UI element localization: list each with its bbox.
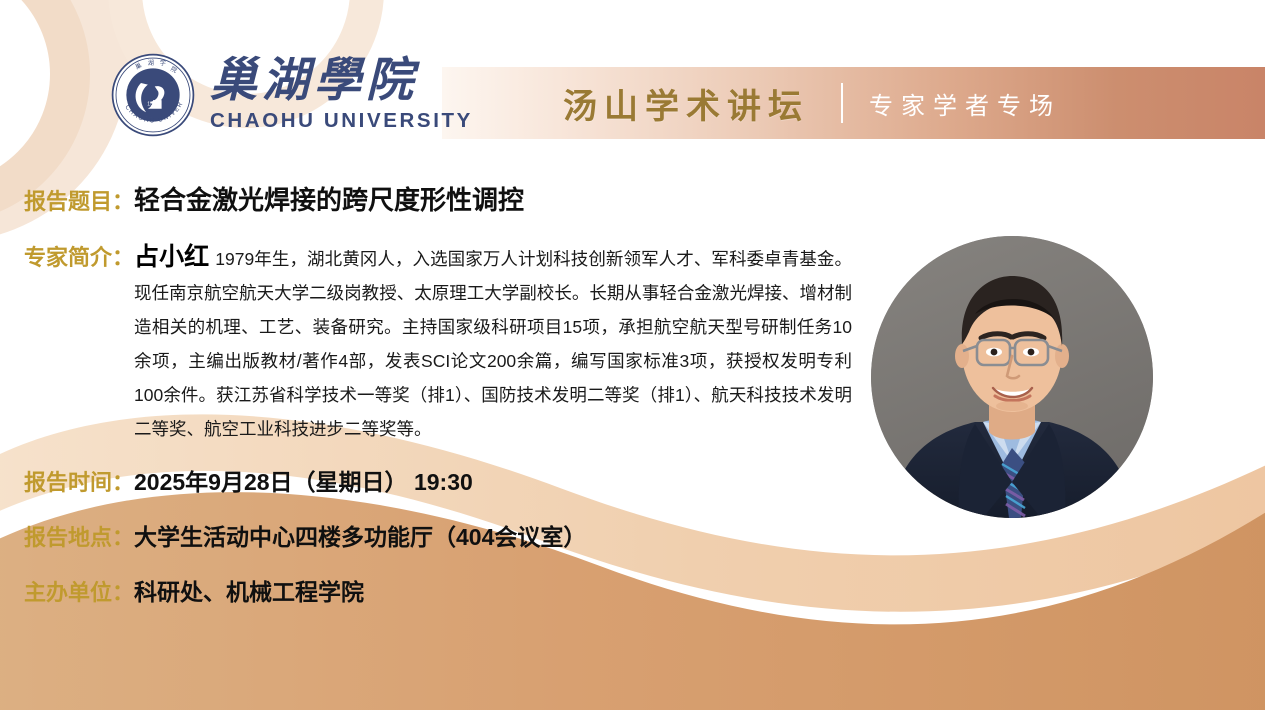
value-report-title: 轻合金激光焊接的跨尺度形性调控 [134, 180, 524, 217]
row-report-place: 报告地点： 大学生活动中心四楼多功能厅（404会议室） [24, 518, 586, 552]
label-report-title: 报告题目： [24, 184, 134, 216]
row-host-organizer: 主办单位： 科研处、机械工程学院 [24, 573, 364, 607]
banner-divider [841, 83, 843, 123]
speaker-bio-body: 占小红1979年生，湖北黄冈人，入选国家万人计划科技创新领军人才、军科委卓青基金… [134, 240, 852, 446]
label-host-organizer: 主办单位： [24, 575, 134, 607]
speaker-bio-text: 1979年生，湖北黄冈人，入选国家万人计划科技创新领军人才、军科委卓青基金。现任… [134, 249, 852, 439]
logo-chinese-name: 巢湖學院 [210, 57, 418, 104]
university-seal-icon: 1977 巢 湖 学 院 CHAOHU UNIVERSITY [110, 52, 196, 138]
speaker-portrait-image [871, 236, 1153, 518]
label-report-time: 报告时间： [24, 465, 134, 497]
poster-root: 汤山学术讲坛 专家学者专场 1977 巢 湖 学 院 CHAOHU UNIVER… [0, 0, 1265, 710]
value-report-place: 大学生活动中心四楼多功能厅（404会议室） [134, 518, 586, 552]
banner-main-title: 汤山学术讲坛 [563, 79, 809, 128]
logo-english-name: CHAOHU UNIVERSITY [210, 109, 473, 133]
svg-text:1977: 1977 [147, 101, 159, 107]
row-report-time: 报告时间： 2025年9月28日（星期日） 19:30 [24, 463, 473, 497]
row-speaker-bio: 专家简介： 占小红1979年生，湖北黄冈人，入选国家万人计划科技创新领军人才、军… [24, 240, 874, 446]
value-host-organizer: 科研处、机械工程学院 [134, 573, 364, 607]
svg-text:湖: 湖 [148, 59, 154, 67]
banner-sub-title: 专家学者专场 [869, 86, 1061, 121]
value-report-time: 2025年9月28日（星期日） 19:30 [134, 463, 473, 497]
svg-text:学: 学 [160, 59, 166, 67]
university-logo: 1977 巢 湖 学 院 CHAOHU UNIVERSITY 巢湖學院 CHAO… [110, 52, 473, 138]
header-banner: 汤山学术讲坛 专家学者专场 [442, 67, 1265, 139]
label-speaker-bio: 专家简介： [24, 240, 134, 272]
label-report-place: 报告地点： [24, 520, 134, 552]
speaker-name: 占小红 [134, 243, 209, 271]
row-report-title: 报告题目： 轻合金激光焊接的跨尺度形性调控 [24, 180, 524, 217]
speaker-portrait [871, 236, 1153, 518]
